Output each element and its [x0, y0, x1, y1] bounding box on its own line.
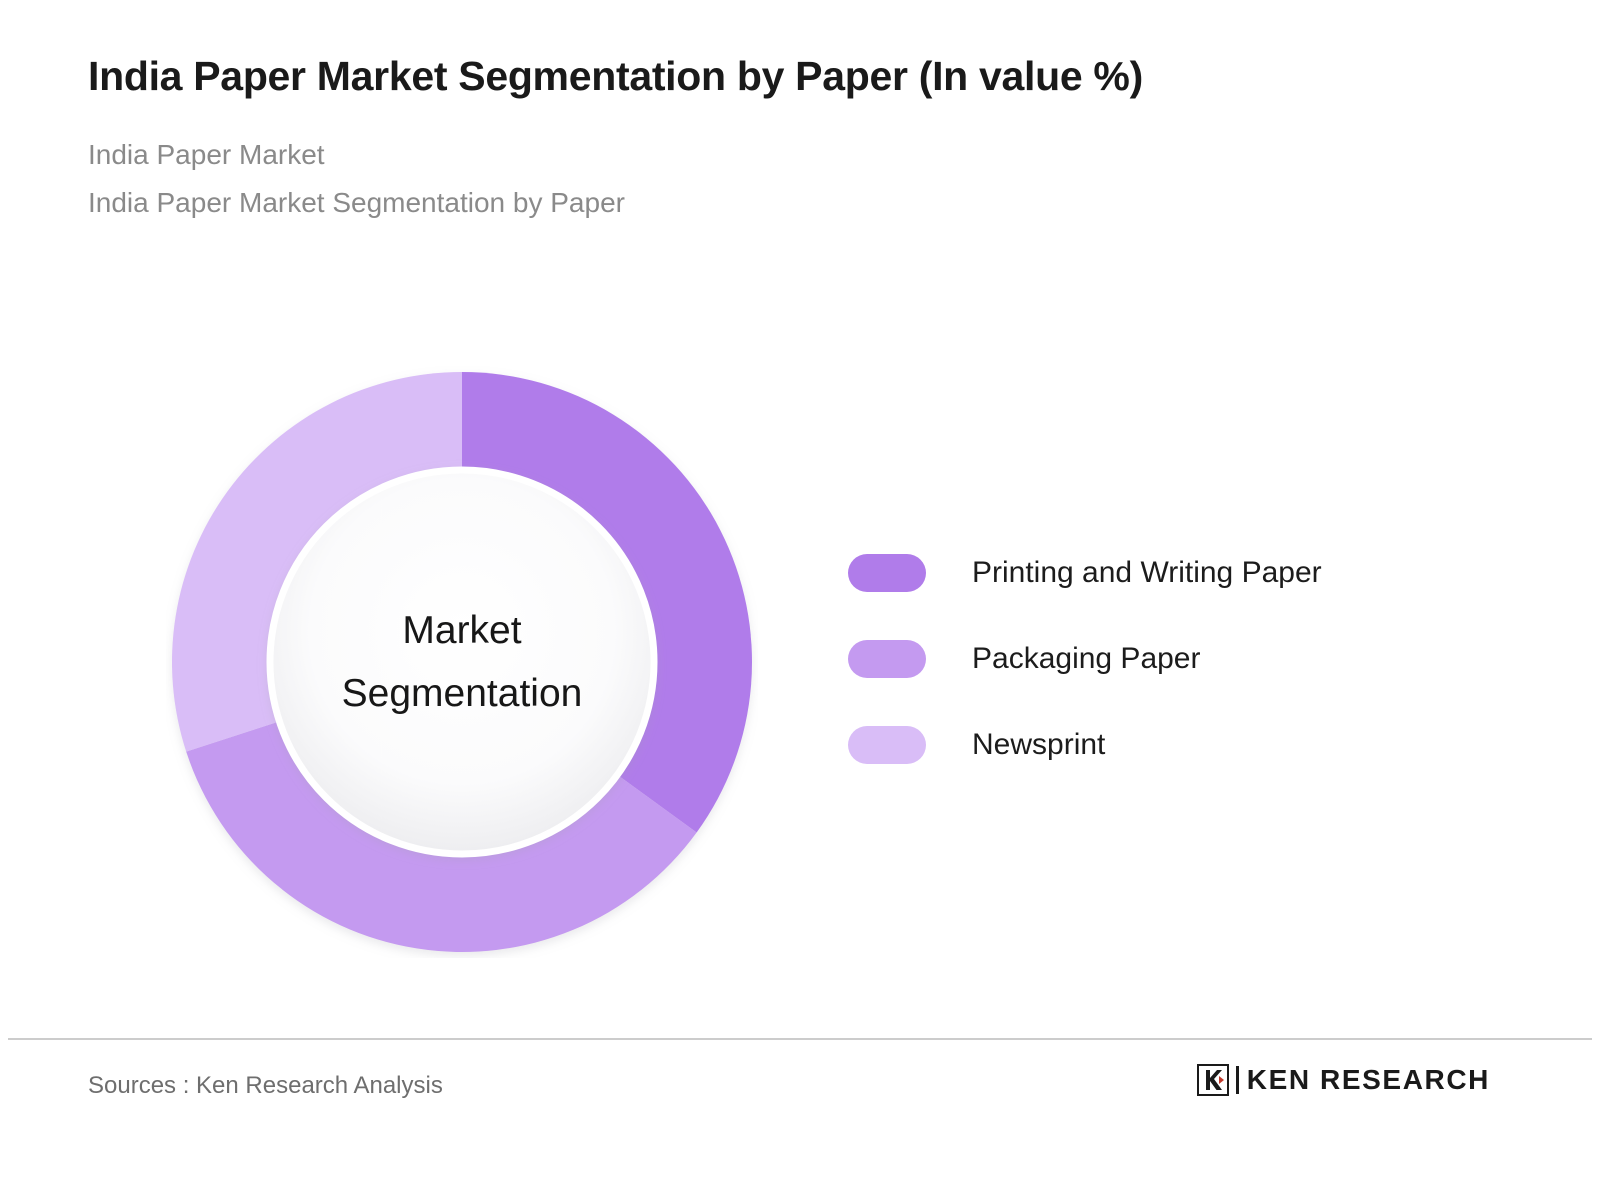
brand-logo: KEN RESEARCH — [1197, 1064, 1490, 1096]
subtitle-line-2: India Paper Market Segmentation by Paper — [88, 179, 1520, 227]
header: India Paper Market Segmentation by Paper… — [88, 52, 1520, 228]
legend-item-packaging-paper[interactable]: Packaging Paper — [848, 616, 1488, 702]
legend-swatch-icon-packaging-paper — [848, 640, 926, 678]
ken-research-badge-icon — [1197, 1064, 1229, 1096]
legend-label-printing-and-writing-paper: Printing and Writing Paper — [972, 556, 1322, 590]
chart-area: Market Segmentation Printing and Writing… — [0, 330, 1600, 1010]
brand-name: KEN RESEARCH — [1247, 1064, 1490, 1096]
page-title: India Paper Market Segmentation by Paper… — [88, 52, 1520, 101]
donut-chart: Market Segmentation — [166, 366, 758, 958]
chart-legend: Printing and Writing Paper Packaging Pap… — [848, 530, 1488, 788]
legend-swatch-icon-printing-and-writing-paper — [848, 554, 926, 592]
brand-separator — [1236, 1066, 1239, 1094]
slide-canvas: India Paper Market Segmentation by Paper… — [0, 0, 1600, 1200]
legend-item-printing-and-writing-paper[interactable]: Printing and Writing Paper — [848, 530, 1488, 616]
footer-source-text: Sources : Ken Research Analysis — [88, 1072, 443, 1100]
subtitle-block: India Paper Market India Paper Market Se… — [88, 131, 1520, 227]
donut-svg — [166, 366, 758, 958]
legend-swatch-icon-newsprint — [848, 726, 926, 764]
legend-item-newsprint[interactable]: Newsprint — [848, 702, 1488, 788]
footer: Sources : Ken Research Analysis KEN RESE… — [0, 1040, 1600, 1200]
subtitle-line-1: India Paper Market — [88, 131, 1520, 179]
legend-label-packaging-paper: Packaging Paper — [972, 642, 1201, 676]
legend-label-newsprint: Newsprint — [972, 728, 1105, 762]
